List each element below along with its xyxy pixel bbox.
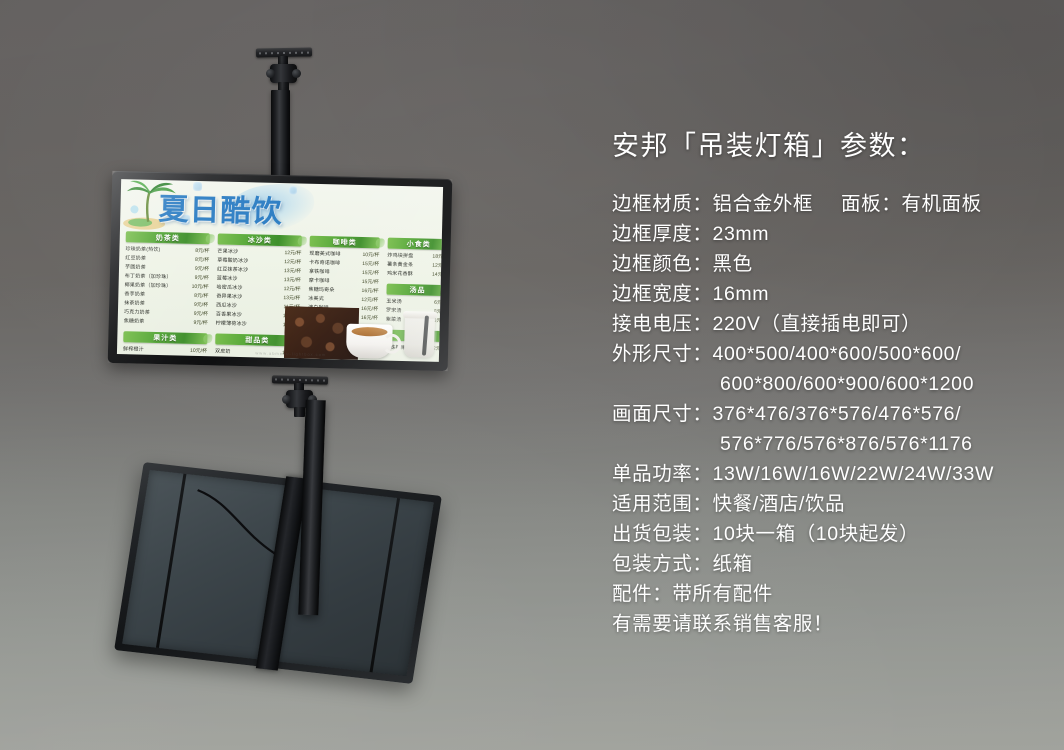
menu-item-price: 9元/杯 bbox=[190, 301, 208, 310]
mount-pole-upper bbox=[271, 90, 290, 182]
menu-item-price: 12元/杯 bbox=[280, 258, 301, 268]
menu-item-price: 15元/杯 bbox=[358, 260, 379, 270]
menu-item-price: 9元/杯 bbox=[189, 319, 207, 328]
menu-section-header: 小食类 bbox=[388, 238, 444, 251]
menu-item-price: 13元/杯 bbox=[279, 294, 300, 304]
spec-line: 边框材质：铝合金外框面板：有机面板 bbox=[612, 189, 1054, 219]
specification-panel: 安邦「吊装灯箱」参数： 边框材质：铝合金外框面板：有机面板边框厚度：23mm边框… bbox=[612, 124, 1054, 639]
menu-item-name: 柠檬茶 bbox=[307, 359, 323, 362]
spec-label: 边框宽度： bbox=[612, 283, 713, 305]
spec-value: 400*500/400*600/500*600/ bbox=[713, 343, 962, 365]
spec-label-secondary: 面板： bbox=[841, 193, 901, 215]
menu-item-name: 柠檬薄荷冰沙 bbox=[216, 319, 247, 329]
spec-label: 边框材质： bbox=[612, 193, 713, 215]
menu-item-price: 12元/杯 bbox=[280, 249, 301, 259]
spec-value: 23mm bbox=[713, 223, 770, 245]
menu-item-name: 西瓜汁 bbox=[123, 354, 139, 362]
spec-value: 376*476/376*576/476*576/ bbox=[713, 403, 962, 425]
menu-item-price: 8元/杯 bbox=[191, 247, 209, 256]
spec-label: 边框厚度： bbox=[612, 223, 713, 245]
spec-value-secondary: 有机面板 bbox=[901, 193, 981, 215]
spec-value: 600*800/600*900/600*1200 bbox=[720, 373, 974, 395]
menu-item-name: 芋圆奶茶 bbox=[125, 263, 146, 273]
menu-item-name: 鸡米花香酥 bbox=[387, 270, 413, 280]
spec-line: 边框厚度：23mm bbox=[612, 219, 1054, 249]
spec-line: 画面尺寸：376*476/376*576/476*576/ bbox=[612, 399, 1054, 429]
spec-value: 10块一箱（10块起发） bbox=[713, 523, 920, 545]
menu-item-price: 6元/碗 bbox=[430, 299, 443, 308]
lower-knob-left bbox=[282, 395, 291, 404]
menu-column: 奶茶类珍珠奶茶(热饮)8元/杯红豆奶茶8元/杯芋圆奶茶9元/杯布丁奶茶（加珍珠）… bbox=[122, 231, 210, 362]
menu-section-title: 小食类 bbox=[388, 238, 444, 251]
spec-line: 单品功率：13W/16W/16W/22W/24W/33W bbox=[612, 459, 1054, 489]
mount-tension-knob-right bbox=[292, 69, 301, 78]
spec-line: 配件：带所有配件 bbox=[612, 579, 1054, 609]
menu-item-price: 14元/份 bbox=[428, 271, 443, 281]
menu-item-name: 玉米汤 bbox=[386, 298, 402, 307]
menu-section-title: 果汁类 bbox=[123, 331, 207, 344]
menu-hero-title: 夏日酷饮 bbox=[158, 184, 283, 231]
mount-tension-knob-left bbox=[266, 69, 275, 78]
spec-value: 铝合金外框 bbox=[713, 193, 814, 215]
menu-section-title: 咖啡类 bbox=[310, 236, 380, 249]
menu-item-price: 8元/杯 bbox=[191, 256, 209, 265]
menu-item-name: 拿铁咖啡 bbox=[309, 268, 330, 278]
menu-item-row: 西瓜汁10元/杯 bbox=[123, 354, 207, 362]
menu-section-title: 汤品 bbox=[386, 284, 443, 297]
spec-title: 安邦「吊装灯箱」参数： bbox=[612, 124, 1054, 163]
spec-line: 包装方式：纸箱 bbox=[612, 549, 1054, 579]
lightbox-aluminum-frame: 夏日酷饮 奶茶类珍珠奶茶(热饮)8元/杯红豆奶茶8元/杯芋圆奶茶9元/杯布丁奶茶… bbox=[108, 171, 453, 371]
menu-item-price: 10元/杯 bbox=[186, 356, 207, 362]
ceiling-mount-bracket bbox=[248, 48, 358, 188]
spec-line: 边框宽度：16mm bbox=[612, 279, 1054, 309]
lower-mount-neck-lower bbox=[294, 407, 305, 417]
menu-section-header: 奶茶类 bbox=[126, 231, 210, 244]
ice-cube-2 bbox=[289, 186, 297, 194]
spec-value: 快餐/酒店/饮品 bbox=[713, 493, 846, 515]
menu-item-name: 摩卡咖啡 bbox=[309, 277, 330, 287]
spec-label: 适用范围： bbox=[612, 493, 713, 515]
spec-value: 220V（直接插电即可） bbox=[713, 313, 922, 335]
back-panel-seam-left bbox=[156, 474, 187, 648]
spec-value: 纸箱 bbox=[713, 553, 753, 575]
menu-item-name: 焦糖奶茶 bbox=[124, 317, 145, 327]
lightbox-front-menu-panel: 夏日酷饮 奶茶类珍珠奶茶(热饮)8元/杯红豆奶茶8元/杯芋圆奶茶9元/杯布丁奶茶… bbox=[108, 171, 453, 371]
product-photo-scene: 夏日酷饮 奶茶类珍珠奶茶(热饮)8元/杯红豆奶茶8元/杯芋圆奶茶9元/杯布丁奶茶… bbox=[0, 0, 1064, 750]
spec-value: 带所有配件 bbox=[672, 583, 773, 605]
menu-item-price: 9元/杯 bbox=[191, 265, 209, 274]
menu-item-price: 12元/杯 bbox=[357, 296, 378, 306]
spec-label: 画面尺寸： bbox=[612, 403, 713, 425]
menu-section-header: 汤品 bbox=[386, 284, 443, 297]
menu-section-header: 咖啡类 bbox=[310, 236, 380, 249]
spec-label: 边框颜色： bbox=[612, 253, 713, 275]
spec-label: 单品功率： bbox=[612, 463, 713, 485]
menu-item-name: 冰美式 bbox=[308, 295, 324, 304]
spec-value: 16mm bbox=[713, 283, 770, 305]
spec-value: 576*776/576*876/576*1176 bbox=[720, 433, 973, 455]
menu-item-price: 9元/杯 bbox=[191, 274, 209, 283]
spec-label: 出货包装： bbox=[612, 523, 713, 545]
spec-value: 13W/16W/16W/22W/24W/33W bbox=[713, 463, 994, 485]
menu-item-price: 9元/杯 bbox=[190, 310, 208, 319]
spec-label: 配件： bbox=[612, 583, 672, 605]
spec-value: 有需要请联系销售客服！ bbox=[612, 613, 833, 635]
back-panel-seam-right bbox=[369, 498, 400, 672]
menu-section-title: 奶茶类 bbox=[126, 231, 210, 244]
spec-line: 576*776/576*876/576*1176 bbox=[612, 429, 1054, 459]
menu-item-name: 西瓜冰沙 bbox=[216, 301, 237, 311]
spec-line: 外形尺寸：400*500/400*600/500*600/ bbox=[612, 339, 1054, 369]
lower-plate-holes bbox=[275, 378, 324, 381]
spec-label: 包装方式： bbox=[612, 553, 713, 575]
spec-label: 外形尺寸： bbox=[612, 343, 713, 365]
menu-item-price: 8元/杯 bbox=[190, 292, 208, 301]
menu-item-price: 14元/份 bbox=[278, 358, 299, 362]
spec-line: 边框颜色：黑色 bbox=[612, 249, 1054, 279]
menu-section-header: 冰沙类 bbox=[218, 233, 302, 246]
spec-value: 黑色 bbox=[713, 253, 753, 275]
menu-item-name: 杨枝甘露 bbox=[215, 356, 236, 361]
spec-line: 出货包装：10块一箱（10块起发） bbox=[612, 519, 1054, 549]
menu-item-name: 红豆奶茶 bbox=[125, 254, 146, 264]
spec-label: 接电电压： bbox=[612, 313, 713, 335]
menu-section-title: 冰沙类 bbox=[218, 233, 302, 246]
spec-line: 600*800/600*900/600*1200 bbox=[612, 369, 1054, 399]
lightbox-menu-screen: 夏日酷饮 奶茶类珍珠奶茶(热饮)8元/杯红豆奶茶8元/杯芋圆奶茶9元/杯布丁奶茶… bbox=[117, 179, 443, 362]
menu-section-header: 果汁类 bbox=[123, 331, 207, 344]
ceiling-plate-holes bbox=[259, 51, 308, 54]
spec-line-list: 边框材质：铝合金外框面板：有机面板边框厚度：23mm边框颜色：黑色边框宽度：16… bbox=[612, 189, 1054, 639]
spec-line: 适用范围：快餐/酒店/饮品 bbox=[612, 489, 1054, 519]
spec-line: 接电电压：220V（直接插电即可） bbox=[612, 309, 1054, 339]
menu-item-name: 蓝莓冰沙 bbox=[217, 274, 238, 284]
spec-line: 有需要请联系销售客服！ bbox=[612, 609, 1054, 639]
menu-item-price: 10元/杯 bbox=[358, 251, 379, 261]
